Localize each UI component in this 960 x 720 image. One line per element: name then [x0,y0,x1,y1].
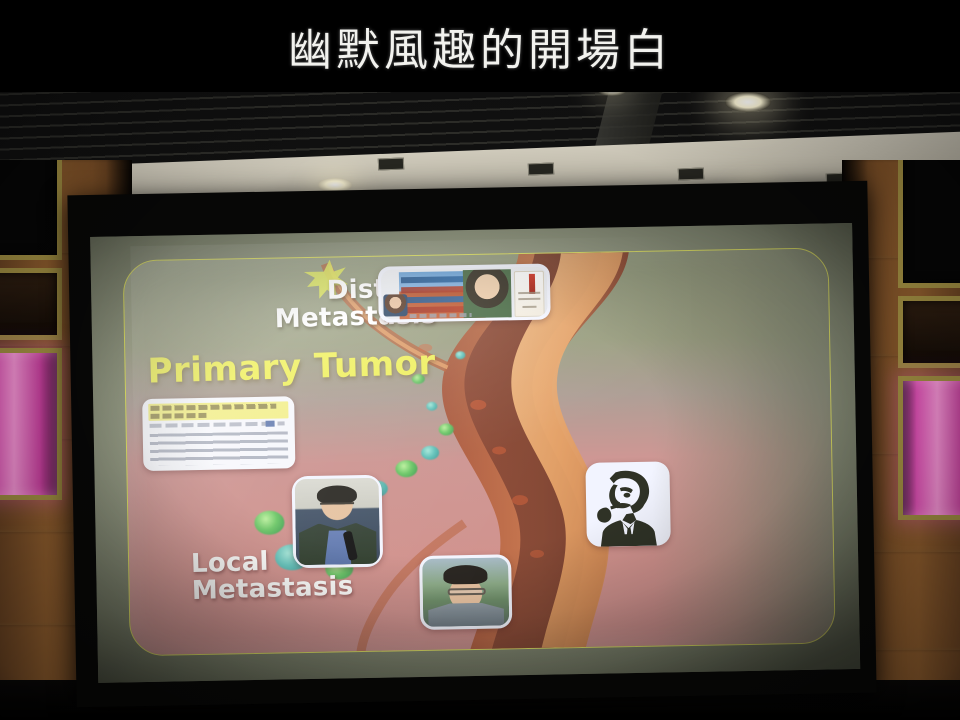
wall-niche-pink-light [0,348,62,500]
article-share-badge [266,421,275,427]
headline-text-line [150,413,206,419]
photo-man-with-microphone-card [292,475,384,569]
book-title-line [518,298,540,300]
lineart-portrait-svg [585,461,671,547]
news-article-snippet-card [142,396,295,471]
wall-niche-pink-light [898,376,960,520]
article-body-text [150,431,289,466]
ceiling-downlight [725,92,771,112]
news-inset-face [383,294,407,316]
article-headline-highlight [148,401,288,421]
presentation-slide: Distant Metastasis Primary Tumor Local M… [123,247,836,656]
page-title: 幽默風趣的開場白 [0,14,960,78]
ceiling-vent [678,168,704,181]
news-tv-banner-card [378,264,551,323]
ceiling-vent [378,158,404,171]
book-title-line [522,306,536,308]
lecture-hall-photo: Distant Metastasis Primary Tumor Local M… [0,0,960,720]
photo-smiling-man-card [419,554,512,630]
wall-niche-mid [0,268,62,340]
wall-niche-dark [0,160,62,260]
title-banner: 幽默風趣的開場白 [0,0,960,92]
person-hair [443,565,488,585]
wall-niche-mid [898,296,960,368]
screen-surface: Distant Metastasis Primary Tumor Local M… [90,223,860,683]
article-meta-line [150,421,285,427]
card-inner [295,478,381,566]
slide-label-primary-tumor: Primary Tumor [147,346,436,389]
book-cover-thumbnail [514,271,545,318]
wall-niche-dark [898,160,960,288]
person-glasses [320,502,354,509]
headline-text-line [150,404,276,411]
book-title-line [518,292,540,294]
lineart-man-with-pipe-card [585,461,671,547]
person-glasses [448,588,486,595]
projection-screen: Distant Metastasis Primary Tumor Local M… [67,181,876,708]
card-inner [381,267,548,320]
card-inner [422,557,509,627]
ceiling-vent [528,163,554,176]
